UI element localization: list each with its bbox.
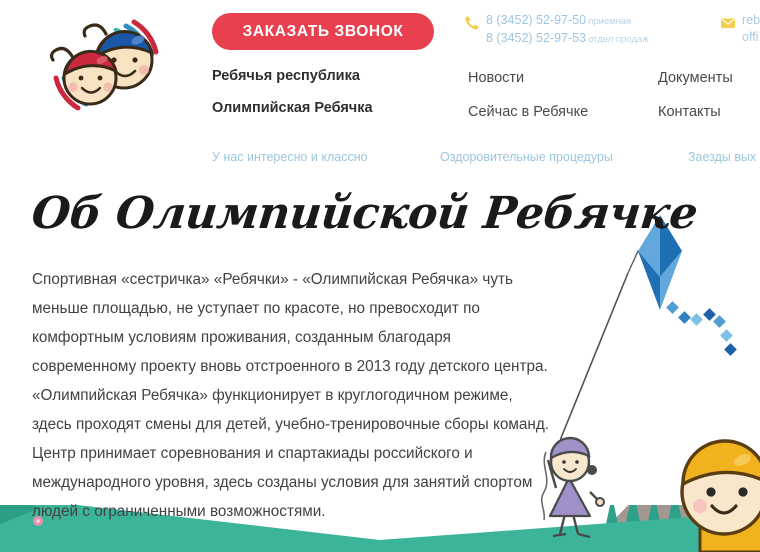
- nav-link-seychas-v-rebyachke[interactable]: Сейчас в Ребячке: [468, 104, 588, 120]
- site-header: ЗАКАЗАТЬ ЗВОНОК Ребячья республика Олимп…: [0, 0, 760, 140]
- main-nav-column-1: Новости Сейчас в Ребячке: [468, 70, 588, 138]
- subnav-link-ozdorovitelnye-procedury[interactable]: Оздоровительные процедуры: [440, 148, 613, 166]
- header-contacts: 8 (3452) 52-97-50приемная 8 (3452) 52-97…: [464, 12, 649, 48]
- envelope-icon: [720, 15, 736, 31]
- phone-note-reception: приемная: [588, 16, 631, 27]
- characters-layer: [0, 400, 760, 552]
- site-logo[interactable]: [42, 12, 170, 122]
- phone-number-reception: 8 (3452) 52-97-50: [486, 13, 586, 27]
- main-nav-column-2: Документы Контакты: [658, 70, 733, 138]
- email-contact-block: reb offi: [720, 12, 760, 46]
- phone-icon: [464, 15, 480, 31]
- phone-line-sales[interactable]: 8 (3452) 52-97-53отдел продаж: [486, 30, 649, 48]
- brand-links: Ребячья республика Олимпийская Ребячка: [212, 68, 447, 132]
- nav-link-novosti[interactable]: Новости: [468, 70, 588, 86]
- subnav-link-zaezdy-vyhodnogo-dnya[interactable]: Заезды вых: [688, 148, 756, 166]
- girl-with-kite-illustration: [542, 438, 604, 537]
- phone-line-reception[interactable]: 8 (3452) 52-97-50приемная: [486, 12, 649, 30]
- page-title: Об Олимпийской Ребячке: [29, 185, 700, 243]
- phone-lines: 8 (3452) 52-97-50приемная 8 (3452) 52-97…: [486, 12, 649, 48]
- brand-link-olimpiyskaya-rebyachka[interactable]: Олимпийская Ребячка: [212, 100, 447, 116]
- boy-in-yellow-hat-illustration: [682, 441, 760, 552]
- phone-note-sales: отдел продаж: [588, 34, 649, 45]
- email-line-1[interactable]: reb: [742, 12, 760, 29]
- email-lines: reb offi: [742, 12, 760, 46]
- nav-link-dokumenty[interactable]: Документы: [658, 70, 733, 86]
- nav-link-kontakty[interactable]: Контакты: [658, 104, 733, 120]
- secondary-nav: У нас интересно и классно Оздоровительны…: [0, 148, 760, 172]
- subnav-link-interesno-i-klassno[interactable]: У нас интересно и классно: [212, 148, 368, 166]
- email-line-2[interactable]: offi: [742, 29, 760, 46]
- phone-contact-block: 8 (3452) 52-97-50приемная 8 (3452) 52-97…: [464, 12, 649, 48]
- phone-number-sales: 8 (3452) 52-97-53: [486, 31, 586, 45]
- page-root: ЗАКАЗАТЬ ЗВОНОК Ребячья республика Олимп…: [0, 0, 760, 552]
- brand-link-rebyachya-respublika[interactable]: Ребячья республика: [212, 68, 447, 84]
- order-call-button[interactable]: ЗАКАЗАТЬ ЗВОНОК: [212, 13, 434, 50]
